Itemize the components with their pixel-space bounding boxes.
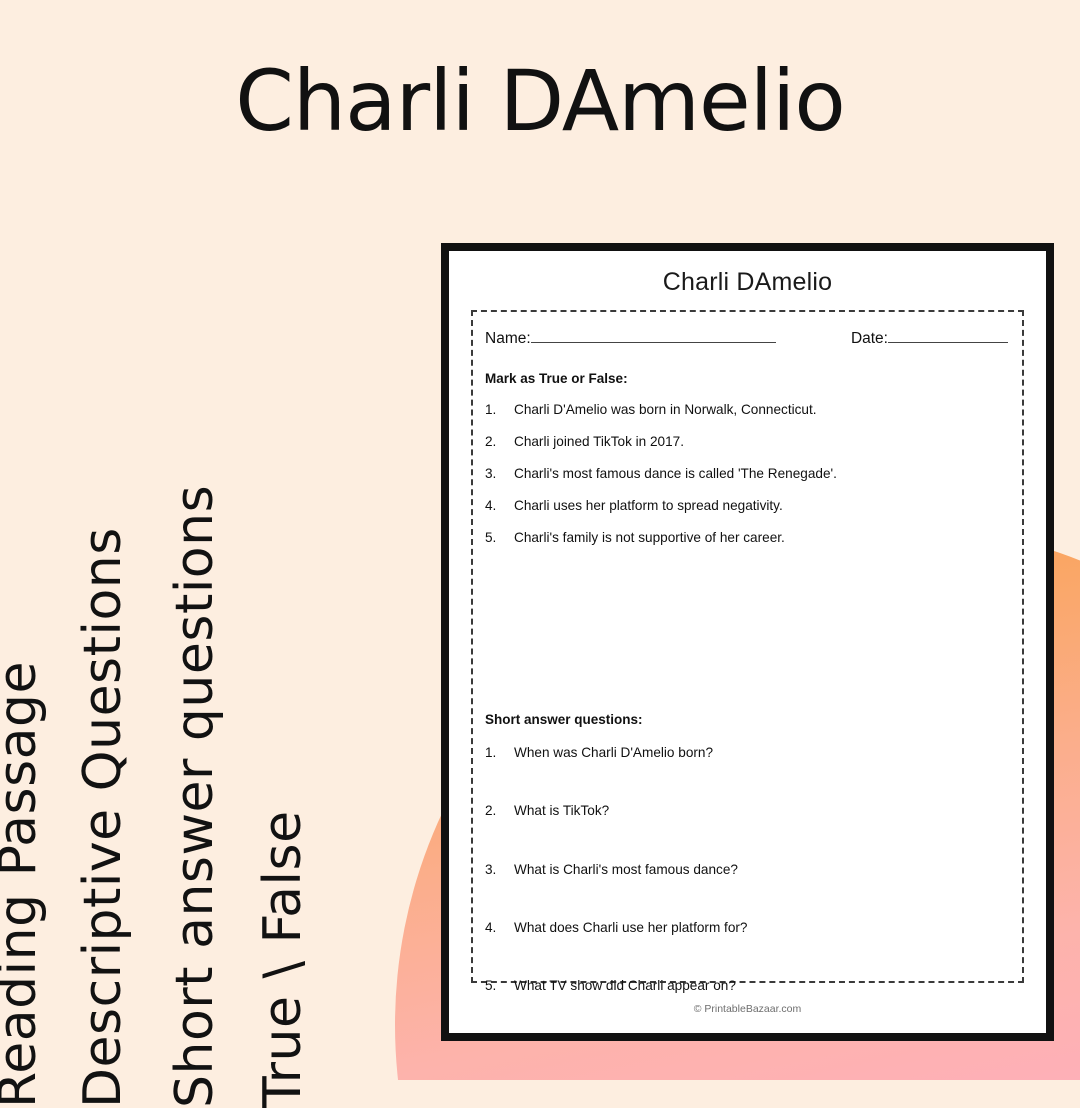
short-answer-section: Short answer questions: 1.When was Charl… (473, 712, 1022, 1037)
true-false-list: 1.Charli D'Amelio was born in Norwalk, C… (473, 402, 1022, 546)
true-false-text: Charli joined TikTok in 2017. (514, 434, 1022, 450)
short-answer-item: 2.What is TikTok? (473, 803, 1022, 819)
true-false-number: 2. (485, 434, 514, 450)
date-field-group[interactable]: Date: (851, 330, 1008, 348)
true-false-number: 5. (485, 530, 514, 546)
true-false-text: Charli's most famous dance is called 'Th… (514, 466, 1022, 482)
true-false-text: Charli's family is not supportive of her… (514, 530, 1022, 546)
short-answer-list: 1.When was Charli D'Amelio born?2.What i… (473, 745, 1022, 995)
name-date-row: Name: Date: (473, 312, 1022, 348)
short-answer-text: What is TikTok? (514, 803, 1022, 819)
short-answer-item: 5.What TV show did Charli appear on? (473, 978, 1022, 994)
true-false-text: Charli D'Amelio was born in Norwalk, Con… (514, 402, 1022, 418)
true-false-number: 1. (485, 402, 514, 418)
date-input-line[interactable] (888, 341, 1008, 343)
short-answer-item: 4.What does Charli use her platform for? (473, 920, 1022, 936)
name-label: Name: (485, 330, 531, 348)
true-false-item: 4.Charli uses her platform to spread neg… (473, 498, 1022, 514)
short-answer-text: What is Charli's most famous dance? (514, 862, 1022, 878)
side-label-reading-passage: Reading Passage (0, 661, 48, 1108)
name-input-line[interactable] (531, 341, 776, 343)
true-false-item: 1.Charli D'Amelio was born in Norwalk, C… (473, 402, 1022, 418)
true-false-number: 3. (485, 466, 514, 482)
short-answer-number: 5. (485, 978, 514, 994)
short-answer-item: 3.What is Charli's most famous dance? (473, 862, 1022, 878)
worksheet-content-box: Name: Date: Mark as True or False: 1.Cha… (471, 310, 1024, 983)
short-answer-number: 4. (485, 920, 514, 936)
true-false-item: 3.Charli's most famous dance is called '… (473, 466, 1022, 482)
short-answer-number: 3. (485, 862, 514, 878)
page-title: Charli DAmelio (0, 52, 1080, 150)
true-false-heading: Mark as True or False: (473, 371, 1022, 386)
short-answer-number: 2. (485, 803, 514, 819)
true-false-item: 2.Charli joined TikTok in 2017. (473, 434, 1022, 450)
name-field-group[interactable]: Name: (485, 330, 776, 348)
side-label-descriptive-questions: Descriptive Questions (73, 527, 133, 1108)
short-answer-text: What does Charli use her platform for? (514, 920, 1022, 936)
date-label: Date: (851, 330, 888, 348)
true-false-text: Charli uses her platform to spread negat… (514, 498, 1022, 514)
worksheet-sheet: Charli DAmelio Name: Date: Mark as True … (441, 243, 1054, 1041)
true-false-number: 4. (485, 498, 514, 514)
worksheet-footer-credit: © PrintableBazaar.com (449, 1003, 1046, 1015)
short-answer-number: 1. (485, 745, 514, 761)
short-answer-text: When was Charli D'Amelio born? (514, 745, 1022, 761)
short-answer-item: 1.When was Charli D'Amelio born? (473, 745, 1022, 761)
short-answer-heading: Short answer questions: (473, 712, 1022, 727)
true-false-item: 5.Charli's family is not supportive of h… (473, 530, 1022, 546)
side-label-true-false: True \ False (253, 810, 313, 1108)
short-answer-text: What TV show did Charli appear on? (514, 978, 1022, 994)
side-label-short-answer-questions: Short answer questions (165, 485, 225, 1108)
worksheet-title: Charli DAmelio (449, 268, 1046, 297)
